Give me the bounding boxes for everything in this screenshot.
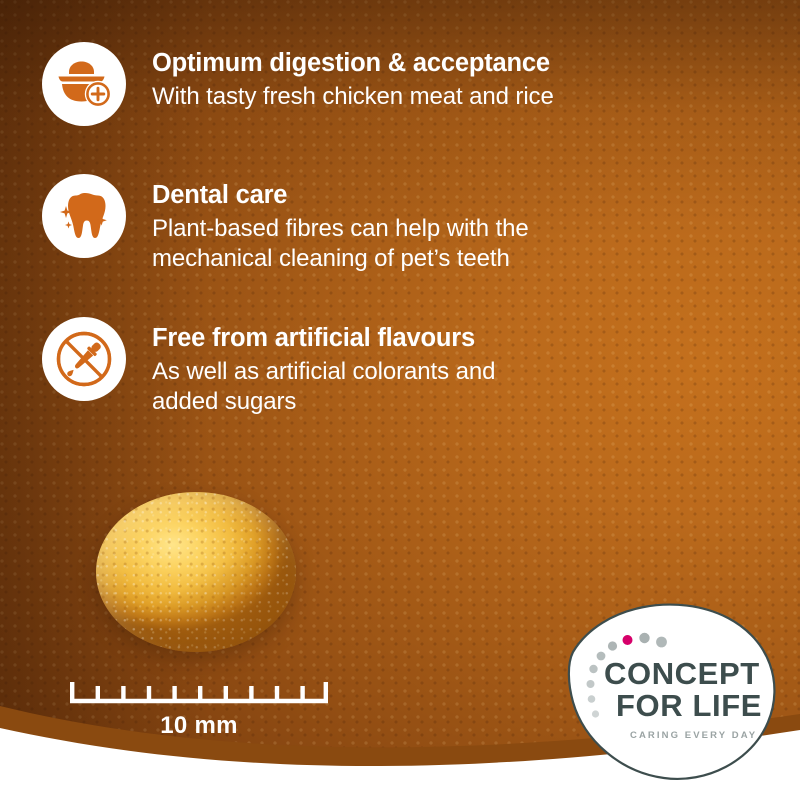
- feature-list: Optimum digestion & acceptance With tast…: [42, 42, 732, 441]
- food-bowl-plus-icon: [42, 42, 126, 126]
- scale-ruler: 10 mm: [68, 678, 330, 740]
- feature-item: Free from artificial flavours As well as…: [42, 317, 732, 416]
- logo-line-2: FOR LIFE: [616, 688, 762, 723]
- scale-label: 10 mm: [68, 712, 330, 740]
- feature-title: Dental care: [152, 181, 529, 211]
- feature-line: added sugars: [152, 387, 495, 417]
- logo-line-1: CONCEPT: [604, 656, 760, 691]
- no-dropper-icon: [42, 317, 126, 401]
- feature-item: Dental care Plant-based fibres can help …: [42, 174, 732, 273]
- brand-logo-badge: CONCEPT FOR LIFE CARING EVERY DAY: [556, 598, 786, 796]
- kibble-image: [96, 492, 296, 652]
- feature-line: mechanical cleaning of pet’s teeth: [152, 244, 529, 274]
- kibble-shading: [96, 492, 296, 652]
- kibble-shape: [96, 492, 296, 652]
- feature-line: As well as artificial colorants and: [152, 357, 495, 387]
- feature-title: Optimum digestion & acceptance: [152, 49, 554, 79]
- feature-title: Free from artificial flavours: [152, 324, 495, 354]
- feature-text: Free from artificial flavours As well as…: [152, 317, 495, 416]
- product-benefits-panel: Optimum digestion & acceptance With tast…: [0, 0, 800, 800]
- feature-item: Optimum digestion & acceptance With tast…: [42, 42, 732, 126]
- feature-text: Optimum digestion & acceptance With tast…: [152, 42, 554, 112]
- logo-tagline: CARING EVERY DAY: [630, 730, 757, 741]
- feature-line: Plant-based fibres can help with the: [152, 214, 529, 244]
- feature-line: With tasty fresh chicken meat and rice: [152, 82, 554, 112]
- tooth-sparkle-icon: [42, 174, 126, 258]
- feature-text: Dental care Plant-based fibres can help …: [152, 174, 529, 273]
